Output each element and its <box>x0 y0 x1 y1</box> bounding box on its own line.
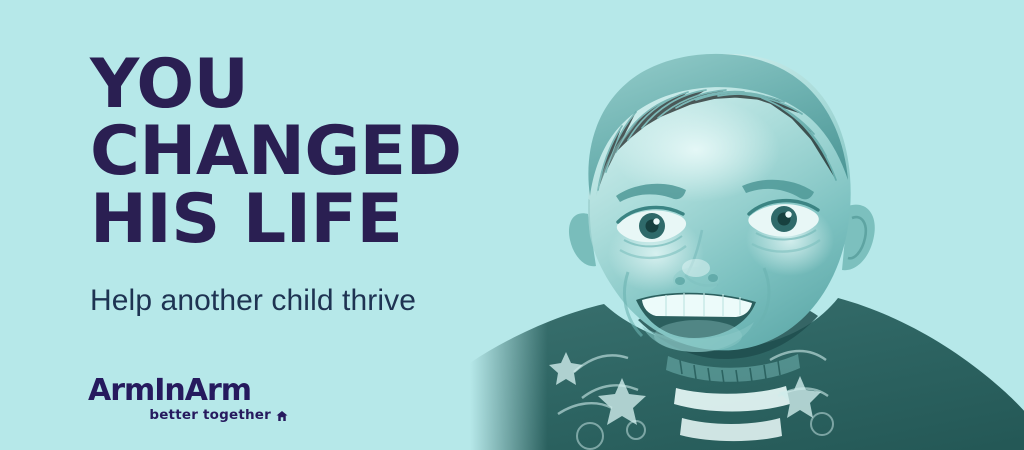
portrait-illustration <box>470 0 1024 450</box>
photo-edge-fade <box>470 0 1024 450</box>
logo-tagline: better together <box>149 409 271 423</box>
child-portrait-photo <box>470 0 1024 450</box>
arminarm-logo[interactable]: ArmInArm better together <box>88 376 298 423</box>
page-title: YOU CHANGED HIS LIFE <box>90 52 510 252</box>
promo-banner: YOU CHANGED HIS LIFE Help another child … <box>0 0 1024 450</box>
logo-tagline-row: better together <box>88 409 288 423</box>
headline-line-1: YOU <box>90 52 510 117</box>
subtitle: Help another child thrive <box>90 252 510 317</box>
house-icon <box>276 410 288 422</box>
headline-line-2: CHANGED <box>90 119 510 184</box>
logo-wordmark: ArmInArm <box>88 376 298 406</box>
headline-line-3: HIS LIFE <box>90 187 510 252</box>
copy-block: YOU CHANGED HIS LIFE Help another child … <box>90 52 510 317</box>
